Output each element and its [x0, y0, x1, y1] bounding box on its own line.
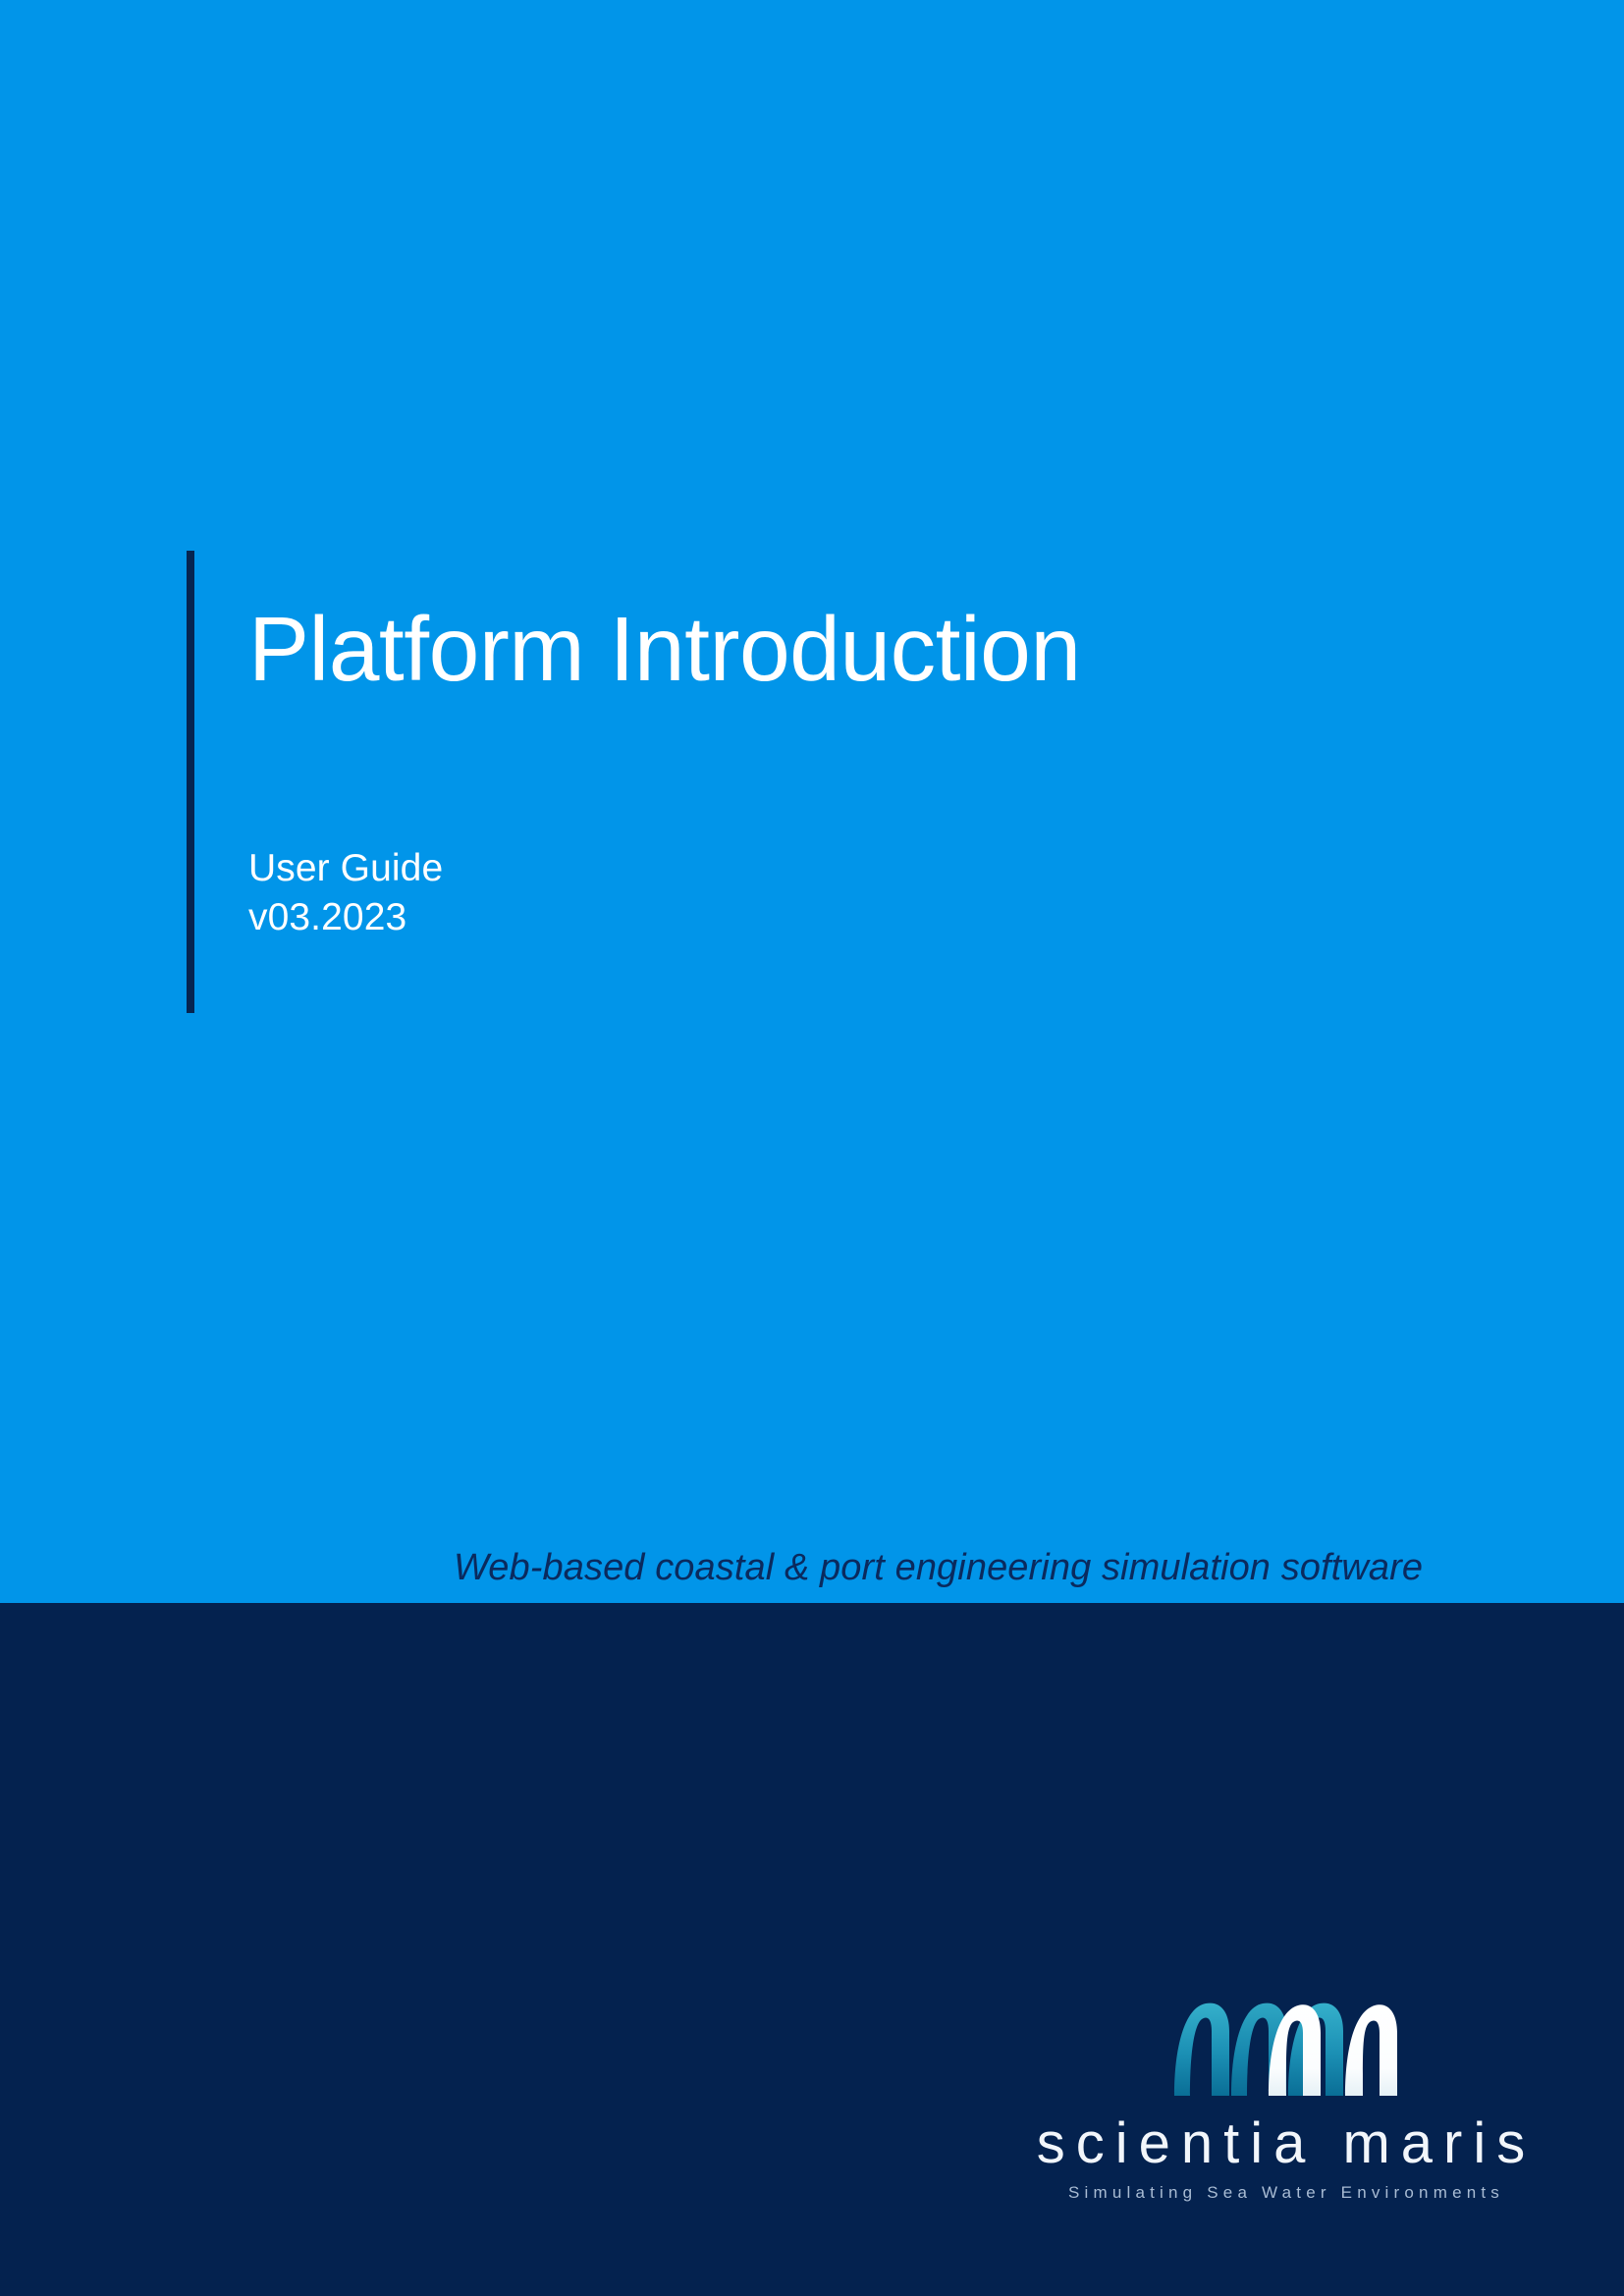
subtitle-block: User Guide v03.2023: [248, 844, 936, 942]
product-strapline: Web-based coastal & port engineering sim…: [454, 1547, 1423, 1589]
title-block: Platform Introduction: [248, 601, 1328, 698]
cover-blue-band: [0, 0, 1624, 1603]
title-accent-rule: [187, 551, 194, 1013]
brand-wordmark: scientia maris: [992, 2115, 1581, 2172]
cover-page: Platform Introduction User Guide v03.202…: [0, 0, 1624, 2296]
page-title: Platform Introduction: [248, 601, 1328, 698]
brand-logo: scientia maris Simulating Sea Water Envi…: [992, 1998, 1581, 2209]
wave-ribbon-sm-mark: [1166, 1998, 1407, 2100]
brand-tagline: Simulating Sea Water Environments: [992, 2184, 1581, 2201]
document-subtitle: User Guide: [248, 844, 936, 893]
document-version: v03.2023: [248, 893, 936, 942]
